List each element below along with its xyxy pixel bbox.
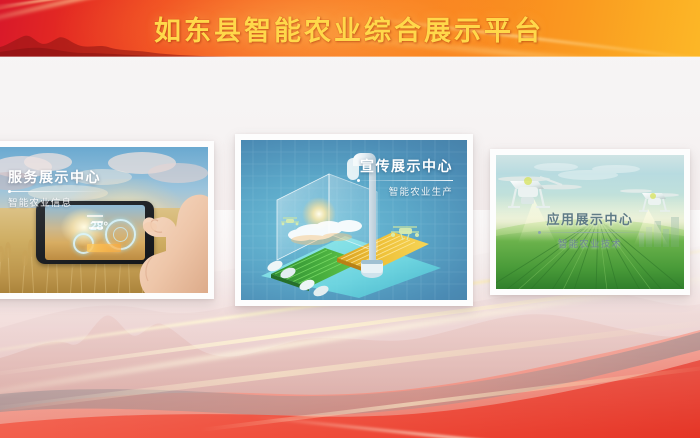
card-image-application: 应用展示中心 智能农业技术 [496,155,684,289]
hud-data-chip [87,244,121,252]
caption-divider [538,232,642,233]
card-service-display-center[interactable]: 28° [0,141,214,299]
card-title-publicity: 宣传展示中心 [357,156,453,176]
card-publicity-display-center[interactable]: 宣传展示中心 智能农业生产 [235,134,473,306]
card-subtitle-application: 智能农业技术 [538,236,642,250]
card-caption-service: 服务展示中心 智能农业信息 [8,167,101,209]
card-title-application: 应用展示中心 [538,209,642,228]
card-subtitle-service: 智能农业信息 [8,195,101,209]
card-subtitle-publicity: 智能农业生产 [357,184,453,198]
banner-bottom-edge [0,56,700,57]
card-image-service: 28° [0,147,208,293]
presentation-page: 如东县智能农业综合展示平台 [0,0,700,438]
caption-divider [8,191,100,192]
hand-graphic [128,185,208,293]
hud-bar [89,227,103,229]
card-title-service: 服务展示中心 [8,167,101,187]
card-image-publicity: 宣传展示中心 智能农业生产 [241,140,467,300]
hud-bar [87,215,103,217]
hud-bar [92,221,103,223]
header-banner: 如东县智能农业综合展示平台 [0,0,700,57]
card-caption-publicity: 宣传展示中心 智能农业生产 [357,156,453,198]
caption-divider [357,180,453,181]
card-application-display-center[interactable]: 应用展示中心 智能农业技术 [490,149,690,295]
degree-symbol: ° [103,219,108,233]
card-caption-application: 应用展示中心 智能农业技术 [538,209,642,250]
page-title: 如东县智能农业综合展示平台 [0,0,700,57]
